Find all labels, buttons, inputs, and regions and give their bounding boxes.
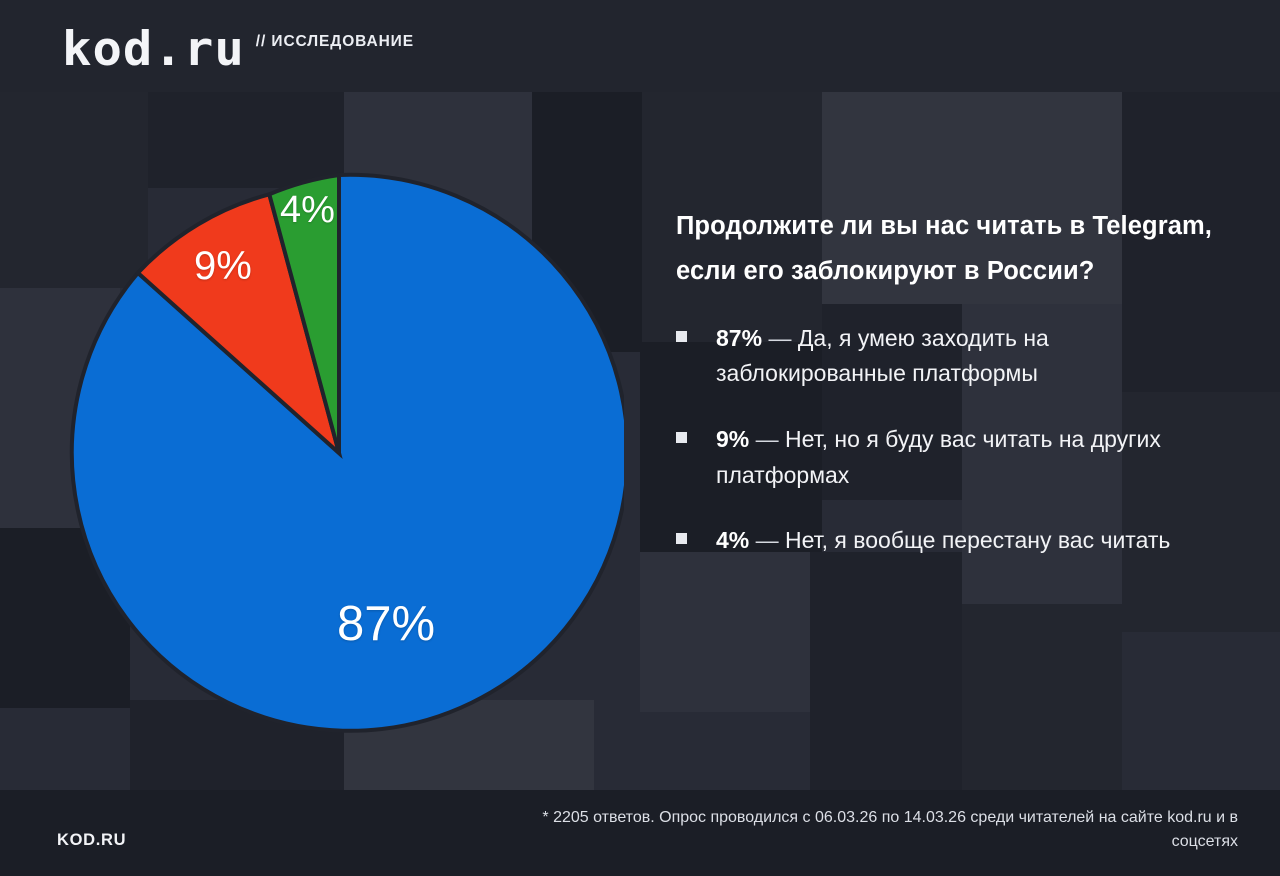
legend-dash: —	[756, 527, 779, 553]
brand-logo[interactable]: kod.ru // ИССЛЕДОВАНИЕ	[62, 26, 414, 73]
legend-item: 87% — Да, я умею заходить на заблокирова…	[676, 321, 1216, 392]
logo-text: kod.ru	[62, 26, 245, 73]
legend-percent: 4%	[716, 527, 749, 553]
footnote-text: * 2205 ответов. Опрос проводился с 06.03…	[518, 806, 1238, 854]
legend-bullet-icon	[676, 533, 687, 544]
legend-list: 87% — Да, я умею заходить на заблокирова…	[676, 321, 1216, 559]
legend-percent: 9%	[716, 426, 749, 452]
pie-label-87: 87%	[337, 600, 435, 649]
legend-label: Нет, но я буду вас читать на других плат…	[716, 426, 1161, 488]
legend-bullet-icon	[676, 331, 687, 342]
pie-label-4: 4%	[280, 191, 335, 229]
pie-label-9: 9%	[194, 246, 252, 286]
legend-bullet-icon	[676, 432, 687, 443]
infographic-canvas: kod.ru // ИССЛЕДОВАНИЕ 87% 9% 4% Продолж…	[0, 0, 1280, 876]
pie-chart-svg	[54, 168, 624, 738]
legend-item: 9% — Нет, но я буду вас читать на других…	[676, 422, 1216, 493]
bg-block	[640, 552, 810, 712]
legend-label: Нет, я вообще перестану вас читать	[785, 527, 1170, 553]
footer-brand: KOD.RU	[57, 831, 126, 850]
legend-dash: —	[768, 325, 791, 351]
legend-label: Да, я умею заходить на заблокированные п…	[716, 325, 1049, 387]
legend-dash: —	[756, 426, 779, 452]
legend-percent: 87%	[716, 325, 762, 351]
bg-block	[810, 552, 962, 790]
bg-block	[962, 604, 1122, 790]
content-column: Продолжите ли вы нас читать в Telegram, …	[676, 204, 1216, 559]
question-title: Продолжите ли вы нас читать в Telegram, …	[676, 204, 1216, 295]
pie-chart: 87% 9% 4%	[54, 168, 624, 738]
section-tag: // ИССЛЕДОВАНИЕ	[256, 33, 414, 73]
legend-item: 4% — Нет, я вообще перестану вас читать	[676, 523, 1216, 559]
